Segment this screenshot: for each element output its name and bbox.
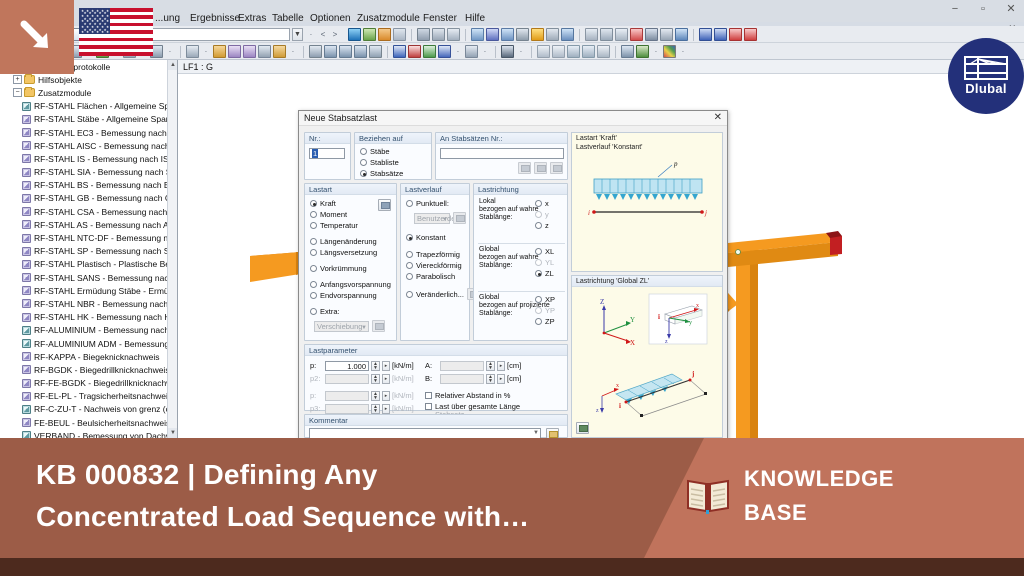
open-book-icon	[686, 478, 730, 514]
param-p2-label: p2:	[310, 374, 323, 383]
paste-icon[interactable]	[675, 28, 688, 41]
lastart-moment-label: Moment	[320, 210, 347, 219]
tree-item[interactable]: RF-BGDK - Biegedrillknicknachweis	[0, 363, 168, 376]
param-b-label: B:	[425, 374, 438, 383]
lastrichtung-xl[interactable]: XL	[535, 246, 554, 257]
menu-item-berechnung[interactable]: ...ung	[155, 13, 180, 24]
lastverlauf-veraenderlich-indicator[interactable]	[406, 291, 413, 298]
lastparameter-label: Lastparameter	[305, 345, 567, 356]
printer-icon[interactable]	[432, 28, 445, 41]
flag-canton: ★★★★★★★★★★★★★★★★★★★★★★★★★★★★★★★★★★★★★★★★…	[79, 8, 110, 34]
radio-stabliste-label: Stabliste	[370, 158, 399, 167]
load-case-combo-caret[interactable]: ▼	[292, 28, 303, 41]
tree-item[interactable]: RF-C-ZU-T - Nachweis von grenz (c/t)	[0, 403, 168, 416]
lastrichtung-xl-indicator[interactable]	[535, 248, 542, 255]
lastparameter-group: Lastparameter p: 1.000 ▲▼ ▸ [kN/m] p2: ▲…	[304, 344, 568, 411]
navigator-tree-panel: ✕ Ausdruckprotokolle+Hilfsobjekte−Zusatz…	[0, 60, 178, 438]
global-wahre-caption-2: bezogen auf wahre	[479, 254, 539, 262]
flag-star: ★	[106, 31, 108, 33]
toolbar-row-1: LF1 - G ▼ · < >	[0, 26, 1024, 43]
material-icon[interactable]	[273, 45, 286, 58]
preview-load-type: Lastart 'Kraft' Lastverlauf 'Konstant'	[571, 132, 723, 272]
layer-icon[interactable]	[621, 45, 634, 58]
curve-tool-caret[interactable]: ·	[201, 45, 211, 58]
lastverlauf-veraenderlich-label: Veränderlich...	[416, 290, 464, 299]
tree-item[interactable]: RF-STAHL SIA - Bemessung nach SIA	[0, 166, 168, 179]
lastrichtung-zp-indicator[interactable]	[535, 318, 542, 325]
param-a-input	[440, 361, 484, 371]
tree-item-label: RF-BGDK - Biegedrillknicknachweis	[34, 365, 170, 375]
param-p-more[interactable]: ▸	[382, 361, 390, 371]
measure-icon[interactable]	[585, 28, 598, 41]
tree-item-label: RF-STAHL Plastisch - Plastische Bemessu	[34, 259, 178, 269]
dimension-icon[interactable]	[213, 45, 226, 58]
kb-label: KNOWLEDGE BASE	[744, 462, 894, 530]
lastrichtung-z-label: z	[545, 221, 549, 230]
tree-item-label: RF-ALUMINIUM ADM - Bemessung von S	[34, 339, 178, 349]
lastart-kraft-label: Kraft	[320, 199, 336, 208]
lastverlauf-trapezfoermig-label: Trapezförmig	[416, 250, 460, 259]
kommentar-group: Kommentar ▼	[304, 414, 568, 438]
lastart-kraft-indicator[interactable]	[310, 200, 317, 207]
beziehen-auf-group: Beziehen auf Stäbe Stabliste Stabsätze	[354, 132, 432, 180]
svg-text:i: i	[619, 402, 621, 410]
kommentar-label: Kommentar	[305, 415, 567, 426]
lastrichtung-xp-label: XP	[545, 295, 555, 304]
tree-item-label: RF-KAPPA - Biegeknicknachweis	[34, 352, 160, 362]
tree-item-label: RF-STAHL Stäbe - Allgemeine Spannungs	[34, 114, 178, 124]
lastart-extra-combo[interactable]: Verschiebung▼	[314, 321, 369, 332]
lastart-laengsversetzung-indicator[interactable]	[310, 249, 317, 256]
radio-stabsaetze[interactable]: Stabsätze	[360, 168, 431, 179]
lastverlauf-viereckfoermig-indicator[interactable]	[406, 262, 413, 269]
param-p3-spinner: ▲▼	[371, 404, 380, 414]
lastverlauf-trapezfoermig-indicator[interactable]	[406, 251, 413, 258]
nr-input[interactable]: 1	[309, 148, 345, 159]
lastverlauf-trapezfoermig[interactable]: Trapezförmig	[406, 249, 469, 260]
lastverlauf-punktuell-detail-icon[interactable]	[453, 212, 466, 224]
tree-item-label: VERBAND - Bemessung von Dachverbänd	[34, 431, 178, 438]
curve-tool-icon[interactable]	[186, 45, 199, 58]
module-icon	[22, 405, 31, 414]
param-p-spinner[interactable]: ▲▼	[371, 361, 380, 371]
nav-prev-button[interactable]: <	[318, 28, 328, 41]
load-tool2-icon[interactable]	[243, 45, 256, 58]
grid-snap-icon[interactable]	[537, 45, 550, 58]
lastrichtung-zl-label: ZL	[545, 269, 554, 278]
radio-stabliste[interactable]: Stabliste	[360, 157, 431, 168]
tree-item-label: RF-STAHL AISC - Bemessung nach AISC (	[34, 141, 178, 151]
tree-item-label: RF-STAHL SIA - Bemessung nach SIA	[34, 167, 178, 177]
tree-item[interactable]: RF-STAHL AISC - Bemessung nach AISC (	[0, 139, 168, 152]
nr-group: Nr.: 1	[304, 132, 351, 180]
preview-load-direction: Lastrichtung 'Global ZL' Z Y X	[571, 275, 723, 438]
radio-staebe-indicator[interactable]	[360, 148, 367, 155]
menu-item-fenster[interactable]: Fenster	[423, 13, 457, 24]
param-p-label: p:	[310, 361, 323, 370]
solid-tool-caret[interactable]: ·	[165, 45, 175, 58]
param-p2-more: ▸	[382, 374, 390, 384]
preview-load-diagram: p i j	[572, 157, 724, 267]
preview-lastverlauf-text: Lastverlauf 'Konstant'	[576, 144, 643, 151]
lokal-caption-2: bezogen auf wahre	[479, 206, 539, 214]
module-icon	[22, 418, 31, 427]
tree-scroll-up-button[interactable]: ▲	[168, 60, 178, 70]
copy-icon[interactable]	[660, 28, 673, 41]
collapse-icon[interactable]: −	[13, 88, 22, 97]
tree-item[interactable]: RF-FE-BGDK - Biegedrillknicknachweis m	[0, 377, 168, 390]
node-icon[interactable]	[486, 28, 499, 41]
axis-caret[interactable]: ·	[453, 45, 463, 58]
module-icon	[22, 339, 31, 348]
menu-item-ergebnisse[interactable]: Ergebnisse	[190, 13, 240, 24]
tree-scroll-down-button[interactable]: ▼	[168, 428, 178, 438]
lastverlauf-parabolisch-label: Parabolisch	[416, 272, 455, 281]
lastrichtung-xp-indicator[interactable]	[535, 296, 542, 303]
axis-z-icon[interactable]	[423, 45, 436, 58]
pan-icon[interactable]	[369, 45, 382, 58]
tree-item-label: RF-STAHL Flächen - Allgemeine Spannun	[34, 101, 178, 111]
lock-icon[interactable]	[546, 28, 559, 41]
tree-item[interactable]: VERBAND - Bemessung von Dachverbänd	[0, 429, 168, 438]
lastart-extra-indicator[interactable]	[310, 308, 317, 315]
lastart-extra-detail-icon[interactable]	[372, 320, 385, 332]
param-p3-input	[325, 404, 369, 414]
radio-stabsaetze-indicator[interactable]	[360, 170, 367, 177]
an-stabsaetzen-label: An Stabsätzen Nr.:	[436, 133, 567, 144]
lastrichtung-x-label: x	[545, 199, 549, 208]
module-icon	[22, 273, 31, 282]
refresh-caret[interactable]: ·	[651, 45, 661, 58]
tree-item[interactable]: RF-EL-PL - Tragsicherheitsnachweis nach	[0, 390, 168, 403]
lastart-vorkruemmung-indicator[interactable]	[310, 265, 317, 272]
radio-staebe-label: Stäbe	[370, 147, 390, 156]
tree-item-label: RF-STAHL SANS - Bemessung nach SANS	[34, 273, 178, 283]
relativer-abstand-label: Relativer Abstand in %	[435, 391, 510, 400]
results-icon[interactable]	[378, 28, 391, 41]
lastrichtung-xl-label: XL	[545, 247, 554, 256]
object-snap-icon[interactable]	[567, 45, 580, 58]
tree-item-label: FE-BEUL - Beulsicherheitsnachweis	[34, 418, 170, 428]
lastart-endvorspannung-indicator[interactable]	[310, 292, 317, 299]
lastart-anfangsvorspannung-indicator[interactable]	[310, 281, 317, 288]
rotate-icon[interactable]	[600, 28, 613, 41]
section-icon[interactable]	[258, 45, 271, 58]
guide-icon[interactable]	[582, 45, 595, 58]
refresh-icon[interactable]	[636, 45, 649, 58]
tree-item[interactable]: RF-STAHL SANS - Bemessung nach SANS	[0, 271, 168, 284]
tree-item[interactable]: RF-STAHL EC3 - Bemessung nach Euroco	[0, 126, 168, 139]
lastart-extra-label: Extra:	[320, 307, 340, 316]
render-caret[interactable]: ·	[480, 45, 490, 58]
lastart-moment-indicator[interactable]	[310, 211, 317, 218]
expand-icon[interactable]: +	[13, 75, 22, 84]
lastverlauf-punktuell-indicator[interactable]	[406, 200, 413, 207]
lastart-vorkruemmung[interactable]: Vorkrümmung	[310, 263, 396, 274]
menubar[interactable]: ...ung Ergebnisse Extras Tabelle Optione…	[0, 12, 1024, 26]
param-p2-spinner: ▲▼	[371, 374, 380, 384]
lastverlauf-konstant[interactable]: Konstant	[406, 232, 469, 243]
menu-item-tabelle[interactable]: Tabelle	[272, 13, 304, 24]
global-wahre-caption-3: Stablänge:	[479, 262, 539, 270]
material-caret[interactable]: ·	[288, 45, 298, 58]
module-icon	[22, 194, 31, 203]
load-tool-icon[interactable]	[228, 45, 241, 58]
svg-text:i: i	[588, 209, 590, 217]
flag-star: ★	[81, 20, 83, 22]
tree-item-label: Hilfsobjekte	[38, 75, 82, 85]
surface-load-icon[interactable]	[471, 28, 484, 41]
delete-icon[interactable]	[630, 28, 643, 41]
lastart-group: Lastart Kraft Moment Temperatur Länge	[304, 183, 397, 341]
flag-star: ★	[81, 10, 83, 12]
radio-staebe[interactable]: Stäbe	[360, 146, 431, 157]
calculate-icon[interactable]	[348, 28, 361, 41]
grid-icon[interactable]	[597, 45, 610, 58]
nav-dots[interactable]: ·	[306, 28, 316, 41]
lastverlauf-punktuell-combo[interactable]: Benutzerde...▼	[414, 213, 450, 224]
pick-member-set-icon[interactable]	[518, 162, 531, 174]
tree-item[interactable]: RF-ALUMINIUM ADM - Bemessung von S	[0, 337, 168, 350]
tree-item[interactable]: −Zusatzmodule	[0, 86, 168, 99]
radio-stabliste-indicator[interactable]	[360, 159, 367, 166]
nr-group-label: Nr.:	[305, 133, 350, 144]
tree-item[interactable]: RF-STAHL GB - Bemessung nach GB	[0, 192, 168, 205]
lastverlauf-veraenderlich[interactable]: Veränderlich...	[406, 289, 464, 300]
lastart-laengenaenderung-label: Längenänderung	[320, 237, 377, 246]
tree-item[interactable]: RF-STAHL CSA - Bemessung nach CSA	[0, 205, 168, 218]
lastrichtung-zl-indicator[interactable]	[535, 270, 542, 277]
global-wahre-caption-1: Global	[479, 246, 539, 254]
globe-caret[interactable]: ·	[516, 45, 526, 58]
module-icon	[22, 352, 31, 361]
module-icon	[22, 141, 31, 150]
lastart-laengenaenderung[interactable]: Längenänderung	[310, 236, 396, 247]
tree-item-label: RF-C-ZU-T - Nachweis von grenz (c/t)	[34, 404, 177, 414]
folder-icon	[24, 88, 35, 97]
lastrichtung-x-indicator[interactable]	[535, 200, 542, 207]
globe-icon[interactable]	[501, 45, 514, 58]
lokal-caption-1: Lokal	[479, 198, 539, 206]
lastrichtung-z-indicator[interactable]	[535, 222, 542, 229]
flag-star: ★	[101, 31, 103, 33]
deformation-icon[interactable]	[393, 28, 406, 41]
tree-item-label: RF-STAHL NBR - Bemessung nach NBR	[34, 299, 178, 309]
lastart-endvorspannung[interactable]: Endvorspannung	[310, 290, 396, 301]
toolbar-row-2: · · · · · · ·	[0, 43, 1024, 60]
module-icon	[22, 181, 31, 190]
flag-star: ★	[91, 31, 93, 33]
pick-member-set-2-icon[interactable]	[534, 162, 547, 174]
flag-star: ★	[81, 15, 83, 17]
view-side-icon[interactable]	[714, 28, 727, 41]
color-scale-caret[interactable]: ·	[678, 45, 688, 58]
tree-scrollbar[interactable]: ▲ ▼	[167, 60, 177, 438]
tree-item[interactable]: RF-STAHL Stäbe - Allgemeine Spannungs	[0, 113, 168, 126]
view-front-icon[interactable]	[699, 28, 712, 41]
dlubal-bridge-icon	[964, 56, 1008, 80]
tree-item[interactable]: RF-ALUMINIUM - Bemessung nach Euro	[0, 324, 168, 337]
an-stabsaetzen-group: An Stabsätzen Nr.:	[435, 132, 568, 180]
lastrichtung-yl-indicator	[535, 259, 542, 266]
calculate-all-icon[interactable]	[363, 28, 376, 41]
flag-stripe	[79, 52, 153, 56]
lastart-endvorspannung-label: Endvorspannung	[320, 291, 377, 300]
flag-star: ★	[81, 26, 83, 28]
folder-icon	[24, 75, 35, 84]
lastrichtung-xp[interactable]: XP	[535, 294, 555, 305]
an-stabsaetzen-input[interactable]	[440, 148, 564, 159]
param-p-b-label: p:	[310, 391, 323, 400]
param-p-unit: [kN/m]	[392, 361, 414, 370]
preview-lastart-text: Lastart 'Kraft'	[576, 135, 617, 142]
lastart-temperatur-indicator[interactable]	[310, 222, 317, 229]
lastrichtung-label: Lastrichtung	[474, 184, 567, 195]
tree-item-label: RF-STAHL AS - Bemessung nach AS	[34, 220, 174, 230]
lastart-anfangsvorspannung-label: Anfangsvorspannung	[320, 280, 391, 289]
kommentar-dropdown-caret[interactable]: ▼	[533, 430, 539, 436]
tree-item[interactable]: RF-STAHL SP - Bemessung nach SP	[0, 245, 168, 258]
tree-item[interactable]: RF-STAHL IS - Bemessung nach IS	[0, 152, 168, 165]
tree-item[interactable]: RF-STAHL NBR - Bemessung nach NBR	[0, 297, 168, 310]
nav-next-button[interactable]: >	[330, 28, 340, 41]
dialog-close-icon[interactable]: ✕	[714, 113, 722, 123]
cut-icon[interactable]	[645, 28, 658, 41]
axis-y-icon[interactable]	[408, 45, 421, 58]
axis-iso-icon[interactable]	[438, 45, 451, 58]
render-mode-icon[interactable]	[465, 45, 478, 58]
param-b-input	[440, 374, 484, 384]
lastverlauf-label: Lastverlauf	[401, 184, 469, 195]
module-icon	[22, 168, 31, 177]
svg-text:z: z	[665, 339, 668, 345]
tree-item-label: RF-STAHL NTC-DF - Bemessung nach NT	[34, 233, 178, 243]
dlubal-logo: Dlubal	[948, 38, 1024, 114]
param-p3-unit: [kN/m]	[392, 404, 414, 413]
param-p-b-input	[325, 391, 369, 401]
param-p-b-spinner: ▲▼	[371, 391, 380, 401]
param-a-more: ▸	[497, 361, 505, 371]
warning-icon[interactable]	[615, 28, 628, 41]
arrow-down-right-icon	[20, 20, 54, 54]
tree-item-label: RF-STAHL GB - Bemessung nach GB	[34, 193, 177, 203]
param-a-unit: [cm]	[507, 361, 521, 370]
support-icon[interactable]	[516, 28, 529, 41]
report-icon[interactable]	[447, 28, 460, 41]
tree-list[interactable]: Ausdruckprotokolle+Hilfsobjekte−Zusatzmo…	[0, 60, 168, 438]
tree-item[interactable]: RF-STAHL Plastisch - Plastische Bemessu	[0, 258, 168, 271]
tree-item-label: RF-STAHL EC3 - Bemessung nach Euroco	[34, 128, 178, 138]
tree-item[interactable]: RF-STAHL Ermüdung Stäbe - Ermüdungs	[0, 284, 168, 297]
lastrichtung-zl[interactable]: ZL	[535, 268, 554, 279]
lastverlauf-punktuell[interactable]: Punktuell:	[406, 198, 469, 209]
lastrichtung-z[interactable]: z	[535, 220, 549, 231]
svg-text:x: x	[696, 303, 699, 309]
module-icon	[22, 326, 31, 335]
knowledge-base-banner: KB 000832 | Defining Any Concentrated Lo…	[0, 438, 1024, 558]
tree-item-label: RF-STAHL HK - Bemessung nach HK	[34, 312, 176, 322]
tree-item[interactable]: +Hilfsobjekte	[0, 73, 168, 86]
tree-item[interactable]: RF-KAPPA - Biegeknicknachweis	[0, 350, 168, 363]
print-icon[interactable]	[417, 28, 430, 41]
pin2-icon[interactable]	[744, 28, 757, 41]
lastverlauf-konstant-indicator[interactable]	[406, 234, 413, 241]
param-b-spinner: ▲▼	[486, 374, 495, 384]
menu-item-hilfe[interactable]: Hilfe	[465, 13, 485, 24]
member-icon[interactable]	[501, 28, 514, 41]
menu-item-extras[interactable]: Extras	[238, 13, 266, 24]
module-icon	[22, 115, 31, 124]
last-gesamte-laenge-checkbox[interactable]	[425, 403, 432, 410]
pin-icon[interactable]	[729, 28, 742, 41]
relativer-abstand-checkbox[interactable]	[425, 392, 432, 399]
lastrichtung-yl-label: YL	[545, 258, 554, 267]
param-p-b-unit: [kN/m]	[392, 391, 414, 400]
zoom-in-icon[interactable]	[324, 45, 337, 58]
param-p-input[interactable]: 1.000	[325, 361, 369, 371]
menu-item-optionen[interactable]: Optionen	[310, 13, 351, 24]
tree-item[interactable]: RF-STAHL Flächen - Allgemeine Spannun	[0, 100, 168, 113]
settings-icon[interactable]	[531, 28, 544, 41]
lastart-extra[interactable]: Extra:	[310, 306, 396, 317]
neue-stabsatzlast-dialog[interactable]: Neue Stabsatzlast ✕ Nr.: 1 Beziehen auf …	[298, 110, 728, 440]
param-a-label: A:	[425, 361, 438, 370]
lastrichtung-zp-label: ZP	[545, 317, 555, 326]
svg-text:i: i	[658, 313, 660, 321]
module-icon	[22, 234, 31, 243]
zoom-window-icon[interactable]	[354, 45, 367, 58]
color-scale-icon[interactable]	[663, 45, 676, 58]
lastart-temperatur-label: Temperatur	[320, 221, 358, 230]
param-p2-input	[325, 374, 369, 384]
tree-item-label: RF-STAHL IS - Bemessung nach IS	[34, 154, 169, 164]
lastrichtung-x[interactable]: x	[535, 198, 549, 209]
lastverlauf-viereckfoermig[interactable]: Viereckförmig	[406, 260, 469, 271]
zoom-out-icon[interactable]	[339, 45, 352, 58]
svg-text:Z: Z	[600, 298, 604, 306]
tree-item[interactable]: RF-STAHL HK - Bemessung nach HK	[0, 311, 168, 324]
preview-snapshot-icon[interactable]	[576, 422, 589, 434]
preview-direction-diagram: Z Y X x	[572, 288, 724, 438]
lastart-options-icon[interactable]	[378, 199, 391, 211]
tree-item-label: Zusatzmodule	[38, 88, 91, 98]
member-set-list-icon[interactable]	[550, 162, 563, 174]
lastart-laengsversetzung-label: Längsversetzung	[320, 248, 377, 257]
flag-tool-icon[interactable]	[561, 28, 574, 41]
module-icon	[22, 207, 31, 216]
module-icon	[22, 154, 31, 163]
lastart-temperatur[interactable]: Temperatur	[310, 220, 396, 231]
lastrichtung-zp[interactable]: ZP	[535, 316, 555, 327]
param-b-unit: [cm]	[507, 374, 521, 383]
menu-item-zusatzmodule[interactable]: Zusatzmodule	[357, 13, 420, 24]
tree-item[interactable]: FE-BEUL - Beulsicherheitsnachweis	[0, 416, 168, 429]
svg-text:x: x	[616, 383, 619, 389]
tree-item[interactable]: RF-STAHL BS - Bemessung nach BS	[0, 179, 168, 192]
lastverlauf-parabolisch[interactable]: Parabolisch	[406, 271, 469, 282]
lastverlauf-konstant-label: Konstant	[416, 233, 446, 242]
lastart-anfangsvorspannung[interactable]: Anfangsvorspannung	[310, 279, 396, 290]
lastart-laengsversetzung[interactable]: Längsversetzung	[310, 247, 396, 258]
lastverlauf-parabolisch-indicator[interactable]	[406, 273, 413, 280]
tree-item[interactable]: RF-STAHL NTC-DF - Bemessung nach NT	[0, 231, 168, 244]
lastrichtung-yp: YP	[535, 305, 555, 316]
ortho-icon[interactable]	[552, 45, 565, 58]
tree-item[interactable]: RF-STAHL AS - Bemessung nach AS	[0, 218, 168, 231]
axis-x-icon[interactable]	[393, 45, 406, 58]
lastart-laengenaenderung-indicator[interactable]	[310, 238, 317, 245]
select-icon[interactable]	[309, 45, 322, 58]
